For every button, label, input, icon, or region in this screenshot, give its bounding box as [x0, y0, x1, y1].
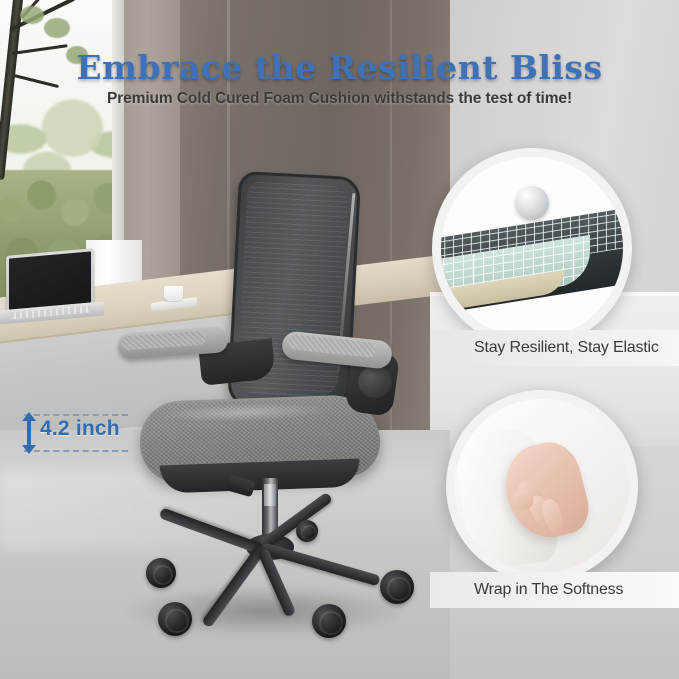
caption-stay-resilient: Stay Resilient, Stay Elastic: [474, 339, 659, 357]
swivel-caster: [296, 520, 318, 542]
leaf-clump: [20, 6, 44, 24]
arrow-head-down: [22, 445, 36, 454]
laptop-display: [9, 251, 91, 309]
cylinder-chrome: [264, 484, 276, 506]
double-headed-vertical-arrow-icon: [22, 412, 36, 454]
measure-guide-bottom: [24, 450, 128, 452]
finger: [539, 498, 566, 537]
armrest-left-pad: [121, 331, 206, 351]
product-marketing-image: 4.2 inch Embrace the Resilient Bliss Pre…: [0, 0, 679, 679]
swivel-caster: [158, 602, 192, 636]
page-subtitle: Premium Cold Cured Foam Cushion withstan…: [0, 90, 679, 108]
measure-guide-top: [24, 414, 128, 416]
swivel-caster: [380, 570, 414, 604]
laptop-keyboard: [10, 306, 90, 320]
swivel-caster: [146, 558, 176, 588]
armrest-right-pivot-knob: [358, 366, 392, 398]
foam-softness-inset: [446, 390, 638, 582]
caption-wrap-softness: Wrap in The Softness: [474, 581, 623, 599]
bouncing-ball-icon: [515, 186, 549, 220]
arrow-shaft: [27, 418, 31, 448]
swivel-caster: [312, 604, 346, 638]
coffee-cup: [164, 286, 183, 301]
leaf-clump: [44, 18, 70, 38]
foam-resilience-inset: [432, 148, 632, 348]
page-title: Embrace the Resilient Bliss: [0, 48, 679, 87]
measurement-label: 4.2 inch: [40, 417, 120, 441]
